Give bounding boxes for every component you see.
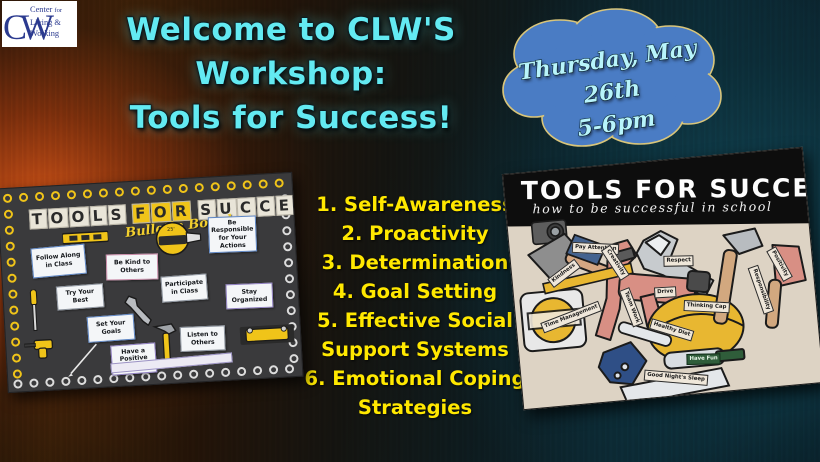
board-title-letter: L [90,205,108,226]
board-border-dot [286,290,295,299]
poster-tool-label: Drive [654,286,677,298]
topic-item: Support Systems [300,335,530,364]
board-border-dot [9,305,18,314]
board-border-dot [83,189,92,198]
board-border-dot [189,369,198,378]
board-border-dot [147,186,156,195]
board-border-dot [282,226,291,235]
board-card: Stay Organized [225,283,273,310]
board-title-letter: O [47,207,68,228]
board-card-label: Try Your Best [60,288,100,306]
board-card-label: Be Responsible for Your Actions [211,218,254,250]
page-title: Welcome to CLW'S Workshop: Tools for Suc… [96,8,486,140]
board-border-dot [4,210,13,219]
bulletin-board-photo: TOOLS FOR SUCCESS Bulletin Board 25' [0,172,303,393]
topic-item: 1. Self-Awareness [300,190,530,219]
board-title-letter: F [132,203,151,224]
board-title-letter: E [276,195,295,216]
board-card-label: Participate in Class [165,279,204,297]
board-card: Follow Along in Class [30,244,86,279]
date-cloud-badge: Thursday, May 26th 5-6pm [498,8,724,148]
board-card-label: Be Kind to Others [110,259,154,275]
board-card: Try Your Best [56,283,105,310]
tape-measure-icon: 25' [154,220,204,257]
board-border-dot [221,368,230,377]
screwdriver-icon [27,289,41,332]
board-border-dot [29,378,38,387]
board-border-dot [242,180,251,189]
board-card: Set Your Goals [87,314,136,343]
logo-line-2: Living & [30,18,61,27]
svg-text:25': 25' [167,227,175,233]
board-border-dot [284,258,293,267]
board-border-dot [13,379,22,388]
board-border-dot [99,188,108,197]
board-title-letter: S [107,204,126,225]
board-border-dot [6,241,15,250]
topic-item: 5. Effective Social [300,306,530,335]
drill-icon [24,336,59,360]
board-border-dot [6,257,15,266]
board-border-dot [115,187,124,196]
board-border-dot [285,364,294,373]
board-border-dot [141,372,150,381]
pencil-icon [64,342,100,378]
board-border-dot [274,178,283,187]
board-card: Participate in Class [160,273,208,302]
board-card: Be Kind to Others [106,253,159,280]
board-card: Listen to Others [180,325,226,352]
clw-logo-text: Center for Living & Working [30,4,77,40]
board-card: Be Responsible for Your Actions [208,215,257,253]
board-border-dot [283,242,292,251]
board-title-letter: T [29,209,48,230]
board-border-dot [173,370,182,379]
board-border-dot [5,226,14,235]
logo-line-1-small: for [54,7,62,14]
board-border-dot [269,365,278,374]
board-card-label: Follow Along in Class [35,251,82,270]
board-border-dot [285,274,294,283]
logo-line-1: Center [30,5,52,14]
board-border-dot [45,377,54,386]
topic-item: 3. Determination [300,248,530,277]
board-title-letter: O [68,206,89,227]
board-border-dot [51,191,60,200]
poster-tool-label: Thinking Cap [683,300,729,313]
topic-item: 2. Proactivity [300,219,530,248]
board-border-dot [211,182,220,191]
clamp-icon [238,323,297,348]
board-border-dot [157,371,166,380]
topic-item: 6. Emotional Coping [300,364,530,393]
board-border-dot [163,185,172,194]
board-border-dot [3,194,12,203]
headline-line-3: Tools for Success! [96,96,486,140]
board-border-dot [205,369,214,378]
board-border-dot [7,273,16,282]
flyer-canvas: CW Center for Living & Working Welcome t… [0,0,820,462]
board-border-dot [19,193,28,202]
board-border-dot [287,306,296,315]
board-border-dot [35,192,44,201]
board-card-label: Set Your Goals [91,319,131,337]
board-border-dot [13,369,22,378]
board-border-dot [237,367,246,376]
board-border-dot [12,353,21,362]
board-border-dot [131,186,140,195]
topic-item: 4. Goal Setting [300,277,530,306]
board-border-dot [289,354,298,363]
topics-list: 1. Self-Awareness 2. Proactivity 3. Dete… [300,190,530,422]
tools-for-success-poster: TOOLS FOR SUCCESS how to be successful i… [502,147,820,410]
board-border-dot [258,179,267,188]
board-border-dot [61,377,70,386]
board-border-dot [11,337,20,346]
board-card-label: Stay Organized [230,288,270,305]
board-title-letter: C [256,196,276,217]
board-border-dot [253,366,262,375]
board-border-dot [195,183,204,192]
poster-tool-label: Have Fun [686,353,721,365]
board-border-dot [10,321,19,330]
board-border-dot [67,190,76,199]
board-border-dot [226,181,235,190]
board-border-dot [179,184,188,193]
headline-line-1: Welcome to CLW'S [96,8,486,52]
board-border-dot [8,289,17,298]
board-card-label: Listen to Others [184,330,222,347]
topic-item: Strategies [300,393,530,422]
clw-logo: CW Center for Living & Working [2,1,77,47]
headline-line-2: Workshop: [96,52,486,96]
poster-tool-label: Respect [663,255,694,267]
level-icon [62,229,109,246]
logo-line-3: Working [30,29,59,38]
